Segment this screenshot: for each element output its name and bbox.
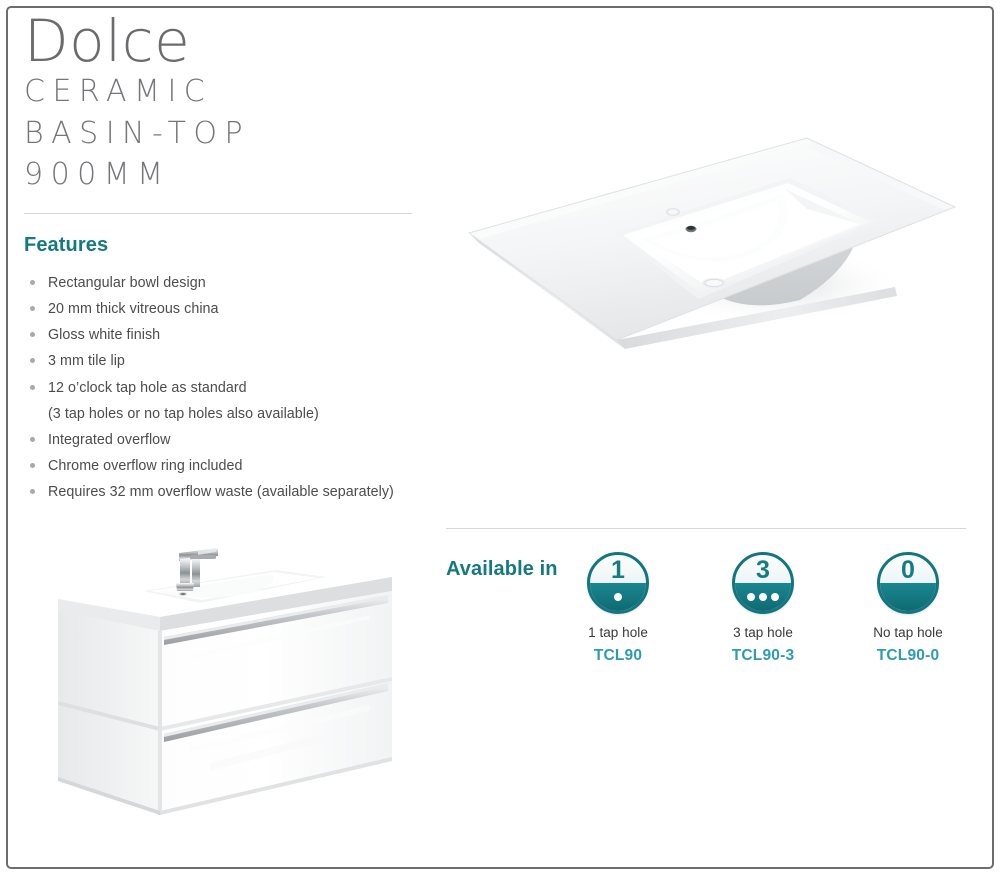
feature-text: 20 mm thick vitreous china	[48, 301, 219, 317]
features-heading: Features	[24, 234, 424, 257]
divider-available-in	[446, 528, 966, 529]
feature-text: Gloss white finish	[48, 327, 160, 343]
tap-hole-options: 1 1 tap hole TCL90 3	[576, 552, 950, 665]
list-item: Requires 32 mm overflow waste (available…	[24, 479, 424, 505]
tap-hole-badge-3-icon: 3	[732, 552, 794, 614]
option-product-code: TCL90-0	[866, 647, 950, 665]
list-item: Chrome overflow ring included	[24, 453, 424, 479]
tap-hole-badge-1-icon: 1	[587, 552, 649, 614]
tap-hole-option-0[interactable]: 0 No tap hole TCL90-0	[866, 552, 950, 665]
basin-top-product-image	[455, 135, 975, 375]
list-item: 20 mm thick vitreous china	[24, 296, 424, 322]
tap-hole-dot-icon	[747, 593, 755, 601]
bullet-icon	[30, 306, 35, 311]
tap-hole-option-1[interactable]: 1 1 tap hole TCL90	[576, 552, 660, 665]
option-label: 1 tap hole	[576, 623, 660, 643]
feature-subtext: (3 tap holes or no tap holes also availa…	[48, 401, 424, 427]
features-list: Rectangular bowl design 20 mm thick vitr…	[24, 270, 424, 505]
list-item: 3 mm tile lip	[24, 348, 424, 374]
option-product-code: TCL90-3	[721, 647, 805, 665]
option-label: No tap hole	[866, 623, 950, 643]
tap-hole-dot-icon	[614, 593, 622, 601]
bullet-icon	[30, 437, 35, 442]
list-item: Integrated overflow	[24, 427, 424, 453]
features-section: Features Rectangular bowl design 20 mm t…	[24, 234, 424, 505]
badge-number: 0	[880, 555, 936, 583]
feature-text: Requires 32 mm overflow waste (available…	[48, 484, 394, 500]
vanity-unit-product-image	[40, 515, 440, 865]
badge-dots	[880, 583, 936, 611]
bullet-icon	[30, 463, 35, 468]
bullet-icon	[30, 332, 35, 337]
product-title-block: Dolce CERAMIC BASIN-TOP 900MM	[24, 12, 424, 195]
badge-number: 3	[735, 555, 791, 583]
badge-number: 1	[590, 555, 646, 583]
option-label: 3 tap hole	[721, 623, 805, 643]
product-subtitle-line-3: 900MM	[24, 154, 424, 195]
feature-text: 12 o’clock tap hole as standard	[48, 380, 247, 396]
available-in-heading: Available in	[446, 558, 558, 581]
tap-hole-badge-0-icon: 0	[877, 552, 939, 614]
product-subtitle-line-1: CERAMIC	[24, 71, 424, 112]
product-subtitle-line-2: BASIN-TOP	[24, 113, 424, 154]
list-item: 12 o’clock tap hole as standard (3 tap h…	[24, 375, 424, 427]
option-product-code: TCL90	[576, 647, 660, 665]
tap-hole-dot-icon	[759, 593, 767, 601]
tap-hole-option-3[interactable]: 3 3 tap hole TCL90-3	[721, 552, 805, 665]
feature-text: Chrome overflow ring included	[48, 458, 243, 474]
bullet-icon	[30, 280, 35, 285]
list-item: Gloss white finish	[24, 322, 424, 348]
badge-dots	[735, 583, 791, 611]
divider-features	[24, 213, 412, 214]
feature-text: 3 mm tile lip	[48, 353, 125, 369]
list-item: Rectangular bowl design	[24, 270, 424, 296]
badge-dots	[590, 583, 646, 611]
feature-text: Rectangular bowl design	[48, 275, 206, 291]
page-title: Dolce	[24, 12, 424, 71]
feature-text: Integrated overflow	[48, 432, 171, 448]
bullet-icon	[30, 489, 35, 494]
bullet-icon	[30, 358, 35, 363]
product-spec-sheet: Dolce CERAMIC BASIN-TOP 900MM Features R…	[0, 0, 1000, 875]
bullet-icon	[30, 385, 35, 390]
tap-hole-dot-icon	[771, 593, 779, 601]
